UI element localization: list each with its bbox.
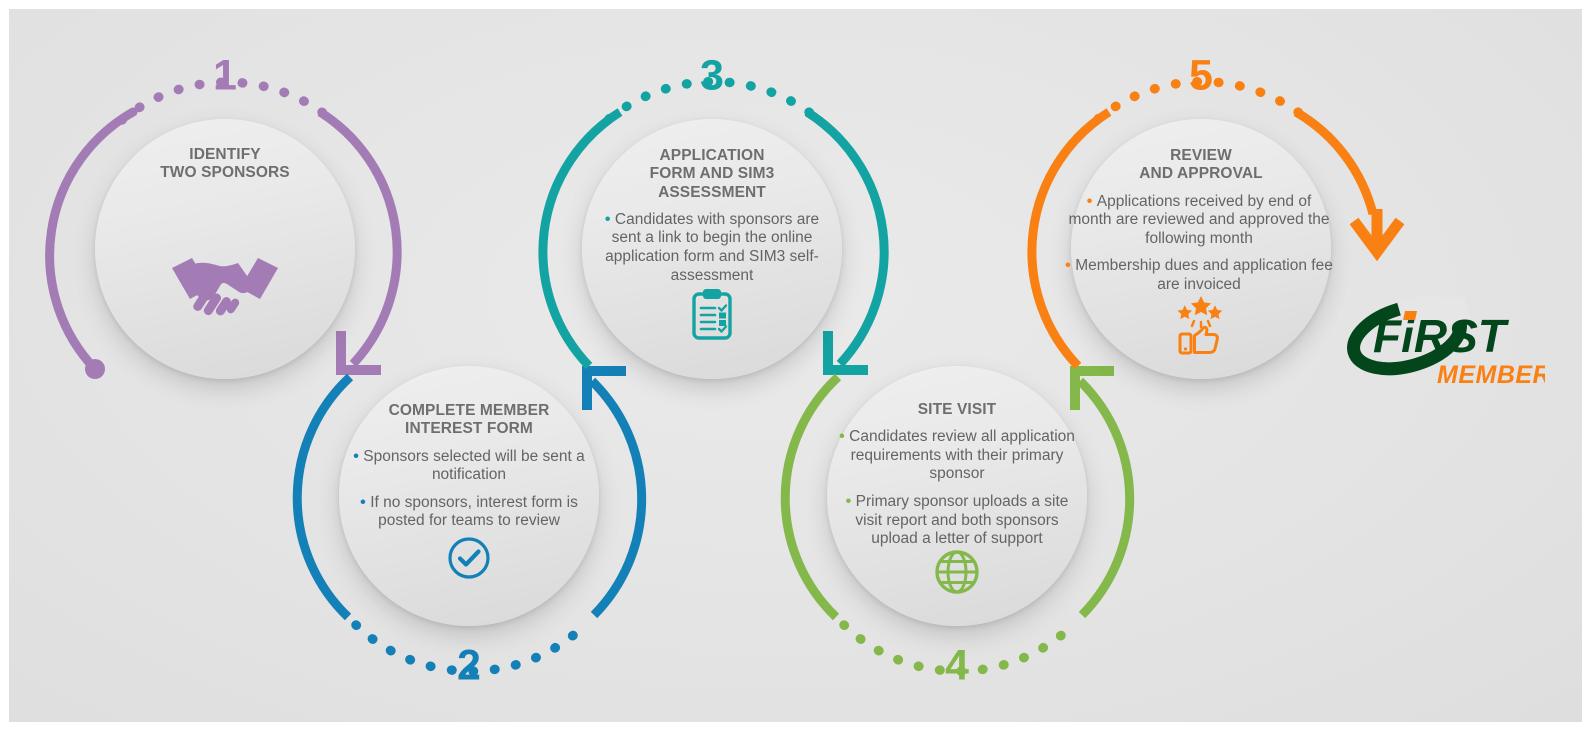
infographic-canvas: 1 2 3 4 5 IDENTIFY TWO SPONSORS (0, 0, 1591, 731)
title-line: TWO SPONSORS (160, 164, 290, 181)
bullet-text: If no sponsors, interest form is posted … (370, 494, 578, 530)
logo-i-dot (1403, 311, 1417, 320)
step-bullet-5-1: • Applications received by end of month … (1065, 193, 1333, 249)
step-bullet-3-1: • Candidates with sponsors are sent a li… (592, 211, 832, 285)
step-title-1: IDENTIFY TWO SPONSORS (160, 146, 290, 183)
title-line: IDENTIFY (189, 146, 260, 163)
thumbs-up-stars-icon (1170, 295, 1232, 362)
title-line: COMPLETE MEMBER (389, 402, 550, 419)
title-line: AND APPROVAL (1139, 165, 1262, 182)
step-bullet-4-2: • Primary sponsor uploads a site visit r… (833, 493, 1081, 549)
step-number-3: 3 (700, 55, 724, 98)
step-bullet-2-1: • Sponsors selected will be sent a notif… (353, 448, 585, 485)
step-card-3[interactable]: APPLICATION FORM AND SIM3 ASSESSMENT • C… (582, 119, 842, 379)
title-line: REVIEW (1170, 147, 1232, 164)
arc-start-dot (85, 359, 105, 379)
step-number-2: 2 (457, 645, 481, 688)
step-number-4: 4 (945, 645, 969, 688)
logo-sub: MEMBER (1437, 361, 1545, 389)
step-number-1: 1 (213, 55, 237, 98)
step-title-4: SITE VISIT (918, 401, 997, 419)
globe-icon (934, 549, 980, 600)
step-card-4[interactable]: SITE VISIT • Candidates review all appli… (827, 366, 1087, 626)
first-member-logo: FiRST MEMBER (1345, 297, 1545, 397)
bullet-text: Primary sponsor uploads a site visit rep… (855, 493, 1068, 547)
title-line: APPLICATION (659, 147, 764, 164)
title-line: SITE VISIT (918, 401, 997, 418)
handshake-icon (170, 250, 280, 321)
title-line: ASSESSMENT (658, 184, 766, 201)
title-line: INTEREST FORM (405, 420, 533, 437)
step-card-5[interactable]: REVIEW AND APPROVAL • Applications recei… (1071, 119, 1331, 379)
bullet-text: Candidates with sponsors are sent a link… (605, 211, 819, 284)
clipboard-checklist-icon (690, 288, 734, 345)
step-title-5: REVIEW AND APPROVAL (1139, 147, 1262, 184)
bullet-text: Sponsors selected will be sent a notific… (363, 448, 584, 484)
step-bullet-2-2: • If no sponsors, interest form is poste… (353, 494, 585, 531)
check-circle-icon (446, 535, 492, 586)
step-bullet-5-2: • Membership dues and application fee ar… (1065, 257, 1333, 294)
step-number-5: 5 (1189, 55, 1213, 98)
bullet-text: Membership dues and application fee are … (1075, 257, 1333, 293)
title-line: FORM AND SIM3 (650, 165, 775, 182)
logo-brand: FiRST (1373, 310, 1510, 362)
bullet-text: Applications received by end of month ar… (1068, 193, 1329, 247)
step-card-1[interactable]: IDENTIFY TWO SPONSORS (95, 119, 355, 379)
step-title-3: APPLICATION FORM AND SIM3 ASSESSMENT (650, 147, 775, 202)
bullet-text: Candidates review all application requir… (849, 428, 1075, 482)
step-title-2: COMPLETE MEMBER INTEREST FORM (389, 402, 550, 439)
step-bullet-4-1: • Candidates review all application requ… (833, 428, 1081, 484)
step-card-2[interactable]: COMPLETE MEMBER INTEREST FORM • Sponsors… (339, 366, 599, 626)
